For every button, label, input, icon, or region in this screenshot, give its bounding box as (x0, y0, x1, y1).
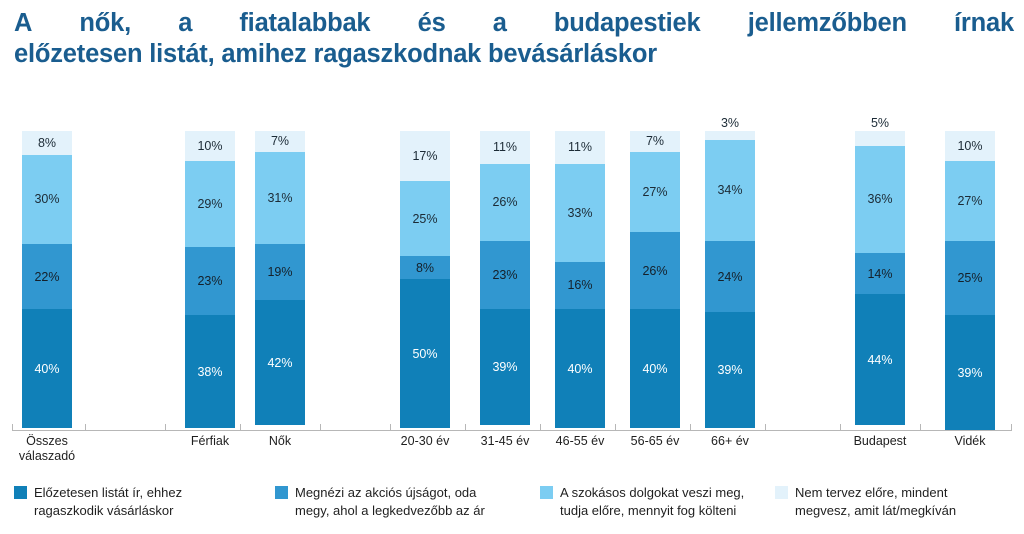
bar-segment[interactable]: 33% (555, 164, 605, 262)
axis-tick (465, 424, 466, 431)
bar-segment[interactable]: 39% (945, 315, 995, 431)
bar-segment-value: 19% (267, 265, 292, 279)
bar-segment[interactable]: 24% (705, 241, 755, 312)
bar-segment-value: 42% (267, 356, 292, 370)
bar-segment[interactable]: 19% (255, 244, 305, 300)
bar-segment[interactable]: 36% (855, 146, 905, 253)
axis-tick (85, 424, 86, 431)
chart-plot-area: 8%30%22%40%10%29%23%38%7%31%19%42%17%25%… (0, 100, 1024, 432)
bar-segment[interactable]: 25% (945, 241, 995, 315)
legend-item-2[interactable]: Megnézi az akciós újságot, oda megy, aho… (275, 484, 485, 520)
page-title-line-1: A nők, a fiatalabbak és a budapestiek je… (14, 8, 1014, 39)
bar-segment-value: 8% (416, 261, 434, 275)
axis-tick (165, 424, 166, 431)
bar-segment-value: 26% (642, 264, 667, 278)
bar-20-30-v[interactable]: 17%25%8%50% (400, 131, 450, 428)
bar-66-v[interactable]: 3%34%24%39% (705, 131, 755, 428)
axis-tick (920, 424, 921, 431)
x-axis-line (12, 430, 1012, 431)
category-label-7: 66+ év (682, 434, 778, 449)
page-title-word: írnak (954, 8, 1014, 39)
bar-segment[interactable]: 31% (255, 152, 305, 244)
bar-segment[interactable]: 14% (855, 253, 905, 295)
bar-segment[interactable]: 11% (555, 131, 605, 164)
category-label-0: Összesválaszadó (0, 434, 95, 464)
bar-segment-value: 39% (957, 366, 982, 380)
bar-sszes-v-laszad[interactable]: 8%30%22%40% (22, 131, 72, 428)
bar-segment[interactable]: 23% (480, 241, 530, 309)
category-label-line: Nők (232, 434, 328, 449)
bar-segment-value: 7% (646, 134, 664, 148)
chart-legend: Előzetesen listát ír, ehhez ragaszkodik … (0, 484, 1024, 534)
bar-segment-value: 22% (34, 270, 59, 284)
bar-segment-value: 50% (412, 347, 437, 361)
legend-swatch-icon (775, 486, 788, 499)
bar-segment[interactable]: 34% (705, 140, 755, 241)
axis-tick (690, 424, 691, 431)
bar-segment-value: 11% (568, 140, 592, 154)
page-title-word: fiatalabbak (239, 8, 370, 39)
page-title: A nők, a fiatalabbak és a budapestiek je… (14, 8, 1014, 70)
bar-segment[interactable]: 42% (255, 300, 305, 425)
bar-budapest[interactable]: 5%36%14%44% (855, 131, 905, 428)
bar-segment-value: 31% (267, 191, 292, 205)
category-label-line: Budapest (832, 434, 928, 449)
bar-segment[interactable]: 5% (855, 131, 905, 146)
bar-segment-value: 23% (492, 268, 517, 282)
legend-label: Előzetesen listát ír, ehhez ragaszkodik … (34, 484, 182, 520)
legend-item-3[interactable]: A szokásos dolgokat veszi meg, tudja elő… (540, 484, 744, 520)
axis-tick (540, 424, 541, 431)
category-label-9: Vidék (922, 434, 1018, 449)
page-title-word: és (418, 8, 446, 39)
bar-segment[interactable]: 7% (630, 131, 680, 152)
bar-segment[interactable]: 40% (22, 309, 72, 428)
bar-segment[interactable]: 26% (480, 164, 530, 241)
bar-segment-value: 39% (717, 363, 742, 377)
bar-segment[interactable]: 27% (630, 152, 680, 232)
bar-segment[interactable]: 8% (400, 256, 450, 280)
bar-segment[interactable]: 16% (555, 262, 605, 310)
bar-f-rfiak[interactable]: 10%29%23%38% (185, 131, 235, 428)
bar-segment-value: 3% (705, 116, 755, 130)
bar-segment[interactable]: 7% (255, 131, 305, 152)
bar-segment[interactable]: 39% (705, 312, 755, 428)
bar-segment-value: 23% (197, 274, 222, 288)
legend-item-4[interactable]: Nem tervez előre, mindent megvesz, amit … (775, 484, 956, 520)
bar-segment-value: 30% (34, 192, 59, 206)
category-label-line: Vidék (922, 434, 1018, 449)
category-label-line: 66+ év (682, 434, 778, 449)
bar-segment-value: 27% (957, 194, 982, 208)
bar-segment-value: 36% (867, 192, 892, 206)
bar-segment-value: 8% (38, 136, 56, 150)
bar-segment-value: 39% (492, 360, 517, 374)
bar-segment-value: 26% (492, 195, 517, 209)
bar-segment-value: 44% (867, 353, 892, 367)
bar-segment[interactable]: 29% (185, 161, 235, 247)
bar-vid-k[interactable]: 10%27%25%39% (945, 131, 995, 428)
page-title-word: budapestiek (554, 8, 701, 39)
legend-swatch-icon (540, 486, 553, 499)
page-title-word: nők, (79, 8, 131, 39)
bar-segment[interactable]: 44% (855, 294, 905, 425)
page-title-word: a (493, 8, 507, 39)
bar-segment[interactable]: 10% (185, 131, 235, 161)
bar-segment[interactable]: 26% (630, 232, 680, 309)
bar-segment-value: 29% (197, 197, 222, 211)
bar-segment[interactable]: 27% (945, 161, 995, 241)
bar-segment-value: 25% (412, 212, 437, 226)
bar-segment[interactable]: 25% (400, 181, 450, 255)
category-label-2: Nők (232, 434, 328, 449)
bar-segment[interactable]: 8% (22, 131, 72, 155)
legend-label: Nem tervez előre, mindent megvesz, amit … (795, 484, 956, 520)
bar-segment[interactable]: 11% (480, 131, 530, 164)
bar-segment-value: 5% (855, 116, 905, 130)
axis-tick (840, 424, 841, 431)
axis-tick (320, 424, 321, 431)
bar-segment-value: 16% (567, 278, 592, 292)
page-title-word: a (178, 8, 192, 39)
bar-segment[interactable]: 30% (22, 155, 72, 244)
bar-segment[interactable]: 17% (400, 131, 450, 181)
bar-segment-value: 40% (34, 362, 59, 376)
bar-segment-value: 24% (717, 270, 742, 284)
bar-segment[interactable]: 23% (185, 247, 235, 315)
axis-tick (12, 424, 13, 431)
bar-segment[interactable]: 3% (705, 131, 755, 140)
legend-swatch-icon (275, 486, 288, 499)
bar-56-65-v[interactable]: 7%27%26%40% (630, 131, 680, 428)
page-title-word: jellemzőbben (748, 8, 907, 39)
bar-segment[interactable]: 40% (555, 309, 605, 428)
bar-segment[interactable]: 38% (185, 315, 235, 428)
bar-segment[interactable]: 50% (400, 279, 450, 428)
bar-segment-value: 33% (567, 206, 592, 220)
bar-segment[interactable]: 40% (630, 309, 680, 428)
legend-item-1[interactable]: Előzetesen listát ír, ehhez ragaszkodik … (14, 484, 182, 520)
bar-segment-value: 17% (412, 149, 437, 163)
legend-swatch-icon (14, 486, 27, 499)
bar-segment-value: 14% (867, 267, 892, 281)
bar-46-55-v[interactable]: 11%33%16%40% (555, 131, 605, 428)
axis-tick (390, 424, 391, 431)
bar-segment-value: 11% (493, 140, 517, 154)
legend-label: Megnézi az akciós újságot, oda megy, aho… (295, 484, 485, 520)
page-title-word: A (14, 8, 32, 39)
category-label-8: Budapest (832, 434, 928, 449)
bar-segment-value: 40% (567, 362, 592, 376)
axis-tick (615, 424, 616, 431)
page-title-line-2: előzetesen listát, amihez ragaszkodnak b… (14, 39, 1014, 70)
legend-label: A szokásos dolgokat veszi meg, tudja elő… (560, 484, 744, 520)
bar-segment-value: 7% (271, 134, 289, 148)
axis-tick (765, 424, 766, 431)
bar-segment-value: 10% (957, 139, 982, 153)
bar-segment-value: 27% (642, 185, 667, 199)
bar-segment-value: 25% (957, 271, 982, 285)
bar-segment-value: 40% (642, 362, 667, 376)
bar-segment[interactable]: 22% (22, 244, 72, 309)
bar-segment[interactable]: 39% (480, 309, 530, 425)
bar-segment[interactable]: 10% (945, 131, 995, 161)
bar-n-k[interactable]: 7%31%19%42% (255, 131, 305, 428)
bar-segment-value: 38% (197, 365, 222, 379)
axis-tick (240, 424, 241, 431)
axis-tick (1011, 424, 1012, 431)
bar-31-45-v[interactable]: 11%26%23%39% (480, 131, 530, 428)
category-label-line: Összes (0, 434, 95, 449)
bar-segment-value: 10% (197, 139, 222, 153)
bar-segment-value: 34% (717, 183, 742, 197)
category-label-line: válaszadó (0, 449, 95, 464)
